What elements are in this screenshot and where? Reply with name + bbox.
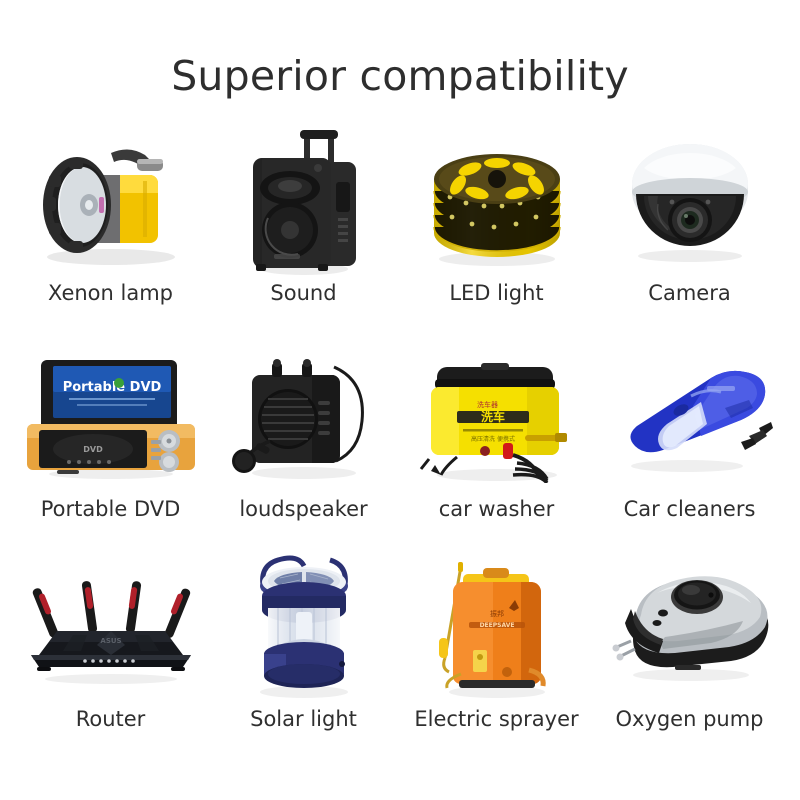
product-label: Camera: [648, 281, 730, 306]
product-cell-electric-sprayer[interactable]: 振邦 DEEPSAVE Electric sprayer: [400, 555, 593, 767]
product-cell-router[interactable]: ASUS Router: [14, 555, 207, 767]
product-label: loudspeaker: [239, 497, 367, 522]
product-cell-solar-light[interactable]: Solar light: [207, 555, 400, 767]
product-cell-portable-dvd[interactable]: Portable DVD DVD: [14, 343, 207, 555]
product-label: Xenon lamp: [48, 281, 173, 306]
page-title: Superior compatibility: [0, 0, 800, 99]
portable-dvd-icon: Portable DVD DVD: [14, 343, 207, 483]
svg-text:洗车器: 洗车器: [477, 400, 498, 409]
svg-text:ASUS: ASUS: [100, 637, 121, 645]
product-label: Electric sprayer: [414, 707, 578, 732]
product-cell-oxygen-pump[interactable]: Oxygen pump: [593, 555, 786, 767]
aquarium-air-pump-icon: [593, 555, 786, 695]
handheld-car-vacuum-icon: [593, 343, 786, 483]
product-cell-xenon-lamp[interactable]: Xenon lamp: [14, 131, 207, 343]
wifi-router-icon: ASUS: [14, 555, 207, 695]
product-cell-loudspeaker[interactable]: loudspeaker: [207, 343, 400, 555]
product-label: LED light: [449, 281, 543, 306]
product-label: Car cleaners: [624, 497, 756, 522]
product-label: Portable DVD: [41, 497, 181, 522]
dome-camera-icon: [593, 131, 786, 271]
svg-text:高压清洗 便携式: 高压清洗 便携式: [471, 435, 515, 443]
product-label: Oxygen pump: [615, 707, 763, 732]
product-cell-sound[interactable]: Sound: [207, 131, 400, 343]
svg-text:振邦: 振邦: [490, 609, 504, 618]
trolley-speaker-icon: [207, 131, 400, 271]
dvd-screen-text: Portable DVD: [62, 380, 161, 395]
backpack-sprayer-icon: 振邦 DEEPSAVE: [400, 555, 593, 695]
solar-lantern-icon: [207, 555, 400, 695]
product-grid: Xenon lamp: [0, 131, 800, 767]
led-strip-reel-icon: [400, 131, 593, 271]
product-label: Solar light: [250, 707, 357, 732]
svg-text:DVD: DVD: [83, 445, 103, 454]
svg-text:DEEPSAVE: DEEPSAVE: [479, 622, 514, 629]
product-cell-car-washer[interactable]: 洗车器 洗车 高压清洗 便携式: [400, 343, 593, 555]
svg-text:洗车: 洗车: [480, 409, 504, 424]
xenon-spotlight-icon: [14, 131, 207, 271]
product-cell-led-light[interactable]: LED light: [400, 131, 593, 343]
car-washer-tank-icon: 洗车器 洗车 高压清洗 便携式: [400, 343, 593, 483]
product-cell-camera[interactable]: Camera: [593, 131, 786, 343]
product-label: Router: [76, 707, 146, 732]
compatibility-infographic: Superior compatibility: [0, 0, 800, 800]
product-cell-car-cleaners[interactable]: Car cleaners: [593, 343, 786, 555]
voice-amplifier-icon: [207, 343, 400, 483]
product-label: Sound: [270, 281, 336, 306]
product-label: car washer: [439, 497, 555, 522]
